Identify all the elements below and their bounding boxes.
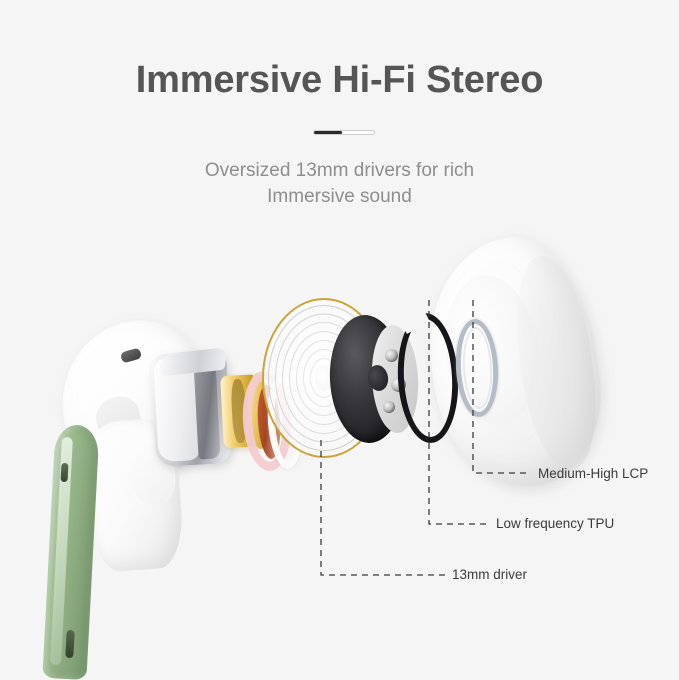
magnet-contact-dot-3 (383, 401, 395, 413)
microphone-port-stem-upper (61, 463, 69, 482)
callout-label-13mm-driver: 13mm driver (452, 567, 527, 583)
page-subtitle-line2: Immersive sound (0, 184, 679, 210)
callout-label-low-frequency-tpu: Low frequency TPU (496, 516, 614, 532)
progress-divider-fill (313, 130, 342, 135)
microphone-port-stem-lower (65, 630, 74, 658)
page-subtitle-line1: Oversized 13mm drivers for rich (205, 160, 474, 181)
page-title: Immersive Hi-Fi Stereo (0, 57, 679, 103)
magnet-contact-dot-1 (385, 349, 398, 362)
product-feature-panel: Immersive Hi-Fi Stereo Oversized 13mm dr… (0, 0, 679, 679)
product-illustration (0, 225, 679, 679)
progress-divider (313, 130, 375, 135)
page-subtitle: Oversized 13mm drivers for rich Immersiv… (0, 158, 679, 210)
callout-label-medium-high-lcp: Medium-High LCP (538, 466, 648, 482)
